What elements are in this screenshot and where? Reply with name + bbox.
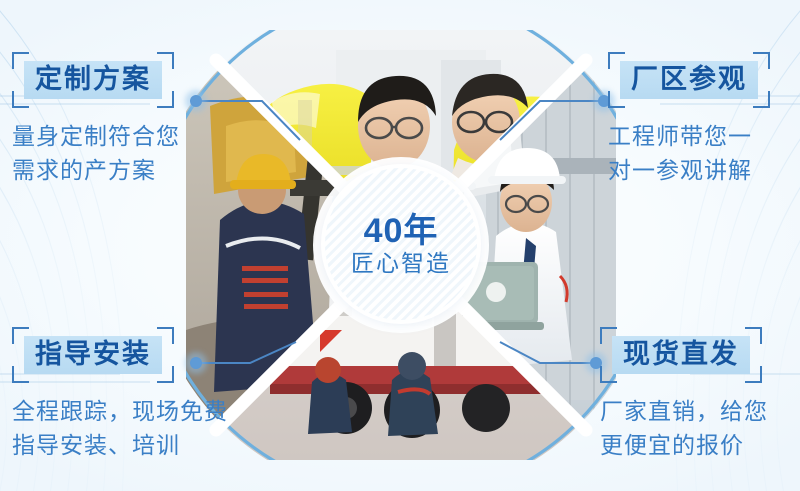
bracket-corner-bottom-right-icon	[753, 91, 770, 108]
bracket-corner-bottom-left-icon	[12, 366, 29, 383]
bracket-corner-top-right-icon	[745, 327, 762, 344]
center-headline: 40年	[364, 214, 439, 248]
feature-heading-band: 指导安装	[24, 336, 162, 374]
bracket-corner-bottom-right-icon	[745, 366, 762, 383]
promo-banner: 40年 匠心智造	[0, 0, 800, 491]
feature-description-line: 需求的产方案	[12, 154, 227, 187]
bracket-corner-top-left-icon	[12, 327, 29, 344]
bracket-corner-bottom-left-icon	[600, 366, 617, 383]
center-badge: 40年 匠心智造	[325, 168, 477, 320]
feature-description: 全程跟踪，现场免费 指导安装、培训	[12, 395, 227, 462]
feature-heading: 厂区参观	[631, 64, 747, 94]
feature-heading: 定制方案	[35, 64, 151, 94]
bracket-corner-top-left-icon	[12, 52, 29, 69]
feature-heading-wrap: 现货直发	[600, 327, 762, 383]
feature-heading-wrap: 厂区参观	[608, 52, 770, 108]
bracket-corner-top-right-icon	[157, 327, 174, 344]
bracket-corner-top-left-icon	[600, 327, 617, 344]
feature-factory-visit[interactable]: 厂区参观 工程师带您一 对一参观讲解	[608, 52, 800, 187]
bracket-corner-bottom-right-icon	[157, 366, 174, 383]
feature-description: 厂家直销，给您 更便宜的报价	[600, 395, 800, 462]
feature-custom-solution[interactable]: 定制方案 量身定制符合您 需求的产方案	[12, 52, 227, 187]
bracket-corner-bottom-left-icon	[12, 91, 29, 108]
feature-description-line: 更便宜的报价	[600, 429, 800, 462]
feature-heading-band: 定制方案	[24, 61, 162, 99]
feature-description: 工程师带您一 对一参观讲解	[608, 120, 800, 187]
feature-description-line: 对一参观讲解	[608, 154, 800, 187]
feature-description-line: 工程师带您一	[608, 120, 800, 153]
feature-in-stock-shipping[interactable]: 现货直发 厂家直销，给您 更便宜的报价	[600, 327, 800, 462]
center-subline: 匠心智造	[351, 252, 451, 275]
bracket-corner-top-right-icon	[753, 52, 770, 69]
feature-heading-wrap: 指导安装	[12, 327, 174, 383]
feature-heading-wrap: 定制方案	[12, 52, 174, 108]
feature-description: 量身定制符合您 需求的产方案	[12, 120, 227, 187]
feature-description-line: 指导安装、培训	[12, 429, 227, 462]
feature-install-guidance[interactable]: 指导安装 全程跟踪，现场免费 指导安装、培训	[12, 327, 227, 462]
feature-heading: 指导安装	[35, 339, 151, 369]
bracket-corner-bottom-left-icon	[608, 91, 625, 108]
feature-heading-band: 现货直发	[612, 336, 750, 374]
bracket-corner-top-right-icon	[157, 52, 174, 69]
bracket-corner-bottom-right-icon	[157, 91, 174, 108]
feature-heading-band: 厂区参观	[620, 61, 758, 99]
feature-description-line: 全程跟踪，现场免费	[12, 395, 227, 428]
feature-heading: 现货直发	[623, 339, 739, 369]
feature-description-line: 厂家直销，给您	[600, 395, 800, 428]
feature-description-line: 量身定制符合您	[12, 120, 227, 153]
bracket-corner-top-left-icon	[608, 52, 625, 69]
